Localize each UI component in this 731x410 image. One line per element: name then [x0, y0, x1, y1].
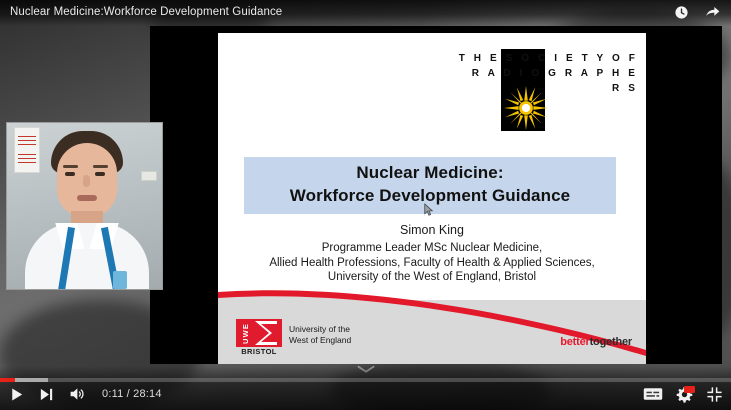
- presenter-name: Simon King: [232, 223, 632, 237]
- mouse-cursor: [424, 203, 433, 217]
- presentation-slide: T H E S O C I E T Y O F R A D I O G R A …: [218, 33, 646, 364]
- next-video-button[interactable]: [38, 386, 55, 403]
- society-logo-line1: T H E S O C I E T Y O F: [456, 51, 638, 66]
- presenter-nose: [83, 175, 90, 187]
- player-control-bar[interactable]: 0:11 / 28:14: [0, 366, 731, 410]
- time-display: 0:11 / 28:14: [102, 388, 162, 400]
- uwe-mark-text: UWE: [241, 322, 250, 344]
- uwe-wedge-icon: [253, 321, 278, 345]
- player-top-bar: Nuclear Medicine:Workforce Development G…: [0, 0, 731, 26]
- share-icon[interactable]: [704, 4, 721, 21]
- uwe-name-line2: West of England: [289, 335, 351, 346]
- play-button[interactable]: [8, 386, 25, 403]
- better-text: better: [560, 336, 589, 348]
- society-of-radiographers-logo: T H E S O C I E T Y O F R A D I O G R A …: [456, 43, 638, 133]
- exit-fullscreen-icon[interactable]: [706, 386, 723, 403]
- watch-later-icon[interactable]: [673, 4, 690, 21]
- wall-poster: [14, 127, 40, 173]
- volume-icon[interactable]: [68, 385, 86, 403]
- wall-note: [141, 171, 157, 181]
- uwe-city-text: BRISTOL: [236, 347, 282, 356]
- id-badge: [113, 271, 127, 289]
- slide-credits: Simon King Programme Leader MSc Nuclear …: [232, 223, 632, 285]
- slide-title-line1: Nuclear Medicine:: [244, 163, 616, 183]
- uwe-name-line1: University of the: [289, 324, 351, 335]
- presenter-faculty: Allied Health Professions, Faculty of He…: [232, 256, 632, 271]
- controls-right: [643, 382, 723, 406]
- subtitles-icon[interactable]: [643, 387, 663, 401]
- video-title[interactable]: Nuclear Medicine:Workforce Development G…: [10, 6, 282, 18]
- better-together-logo: bettertogether: [560, 336, 632, 348]
- presenter-webcam-overlay[interactable]: [6, 122, 163, 290]
- together-text: together: [590, 336, 632, 348]
- settings-new-badge: [684, 386, 695, 393]
- uwe-bristol-logo: UWE BRISTOL University of the West of En…: [236, 319, 386, 355]
- presenter-role: Programme Leader MSc Nuclear Medicine,: [232, 241, 632, 256]
- settings-button[interactable]: [676, 386, 693, 403]
- controls-left: 0:11 / 28:14: [8, 382, 162, 406]
- top-actions: [673, 4, 721, 21]
- sunburst-icon: [503, 85, 549, 131]
- presenter-institution: University of the West of England, Brist…: [232, 270, 632, 285]
- video-player[interactable]: T H E S O C I E T Y O F R A D I O G R A …: [0, 0, 731, 410]
- presenter-mouth: [77, 195, 97, 201]
